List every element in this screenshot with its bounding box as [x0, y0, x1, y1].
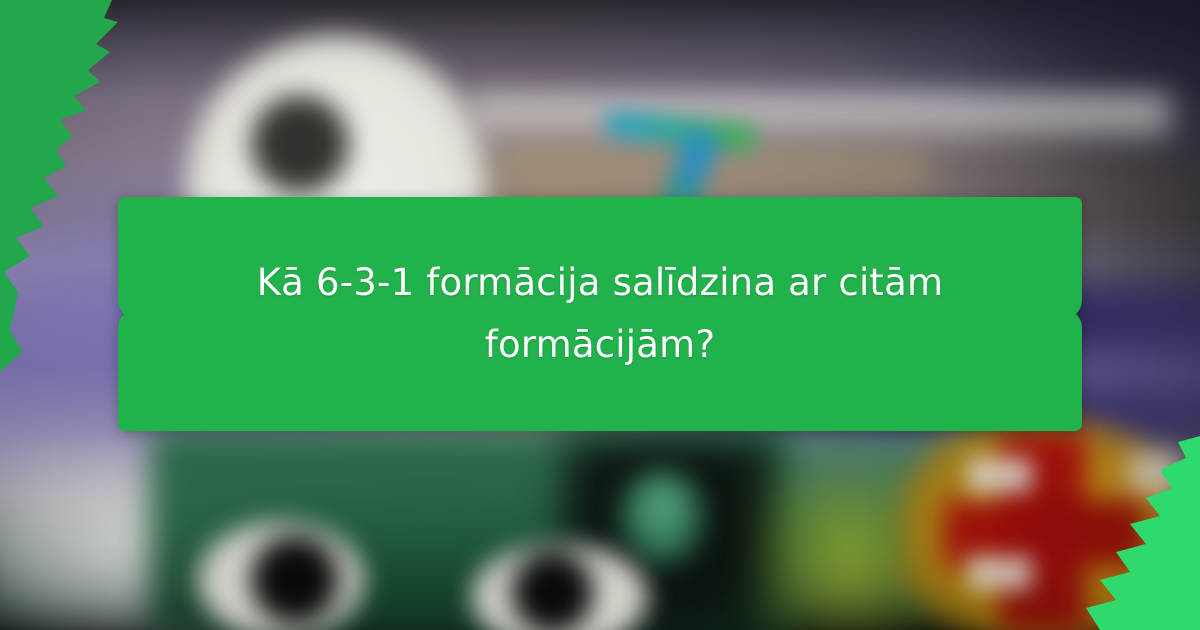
- social-share-card: Kā 6-3-1 formācija salīdzina ar citām fo…: [0, 0, 1200, 630]
- club-crest-quarter-bottom: [968, 556, 1032, 590]
- banner-headline-text: Kā 6-3-1 formācija salīdzina ar citām fo…: [108, 196, 1092, 432]
- club-crest-quarter-top: [968, 458, 1032, 492]
- seven-top-stroke: [605, 110, 757, 152]
- club-crest-highlight: [1128, 452, 1182, 496]
- background-barrier-rail: [470, 96, 1170, 140]
- mascot-neck-highlight: [618, 470, 706, 566]
- mascot-eye-left: [196, 520, 366, 630]
- headline-banner: Kā 6-3-1 formācija salīdzina ar citām fo…: [108, 196, 1092, 432]
